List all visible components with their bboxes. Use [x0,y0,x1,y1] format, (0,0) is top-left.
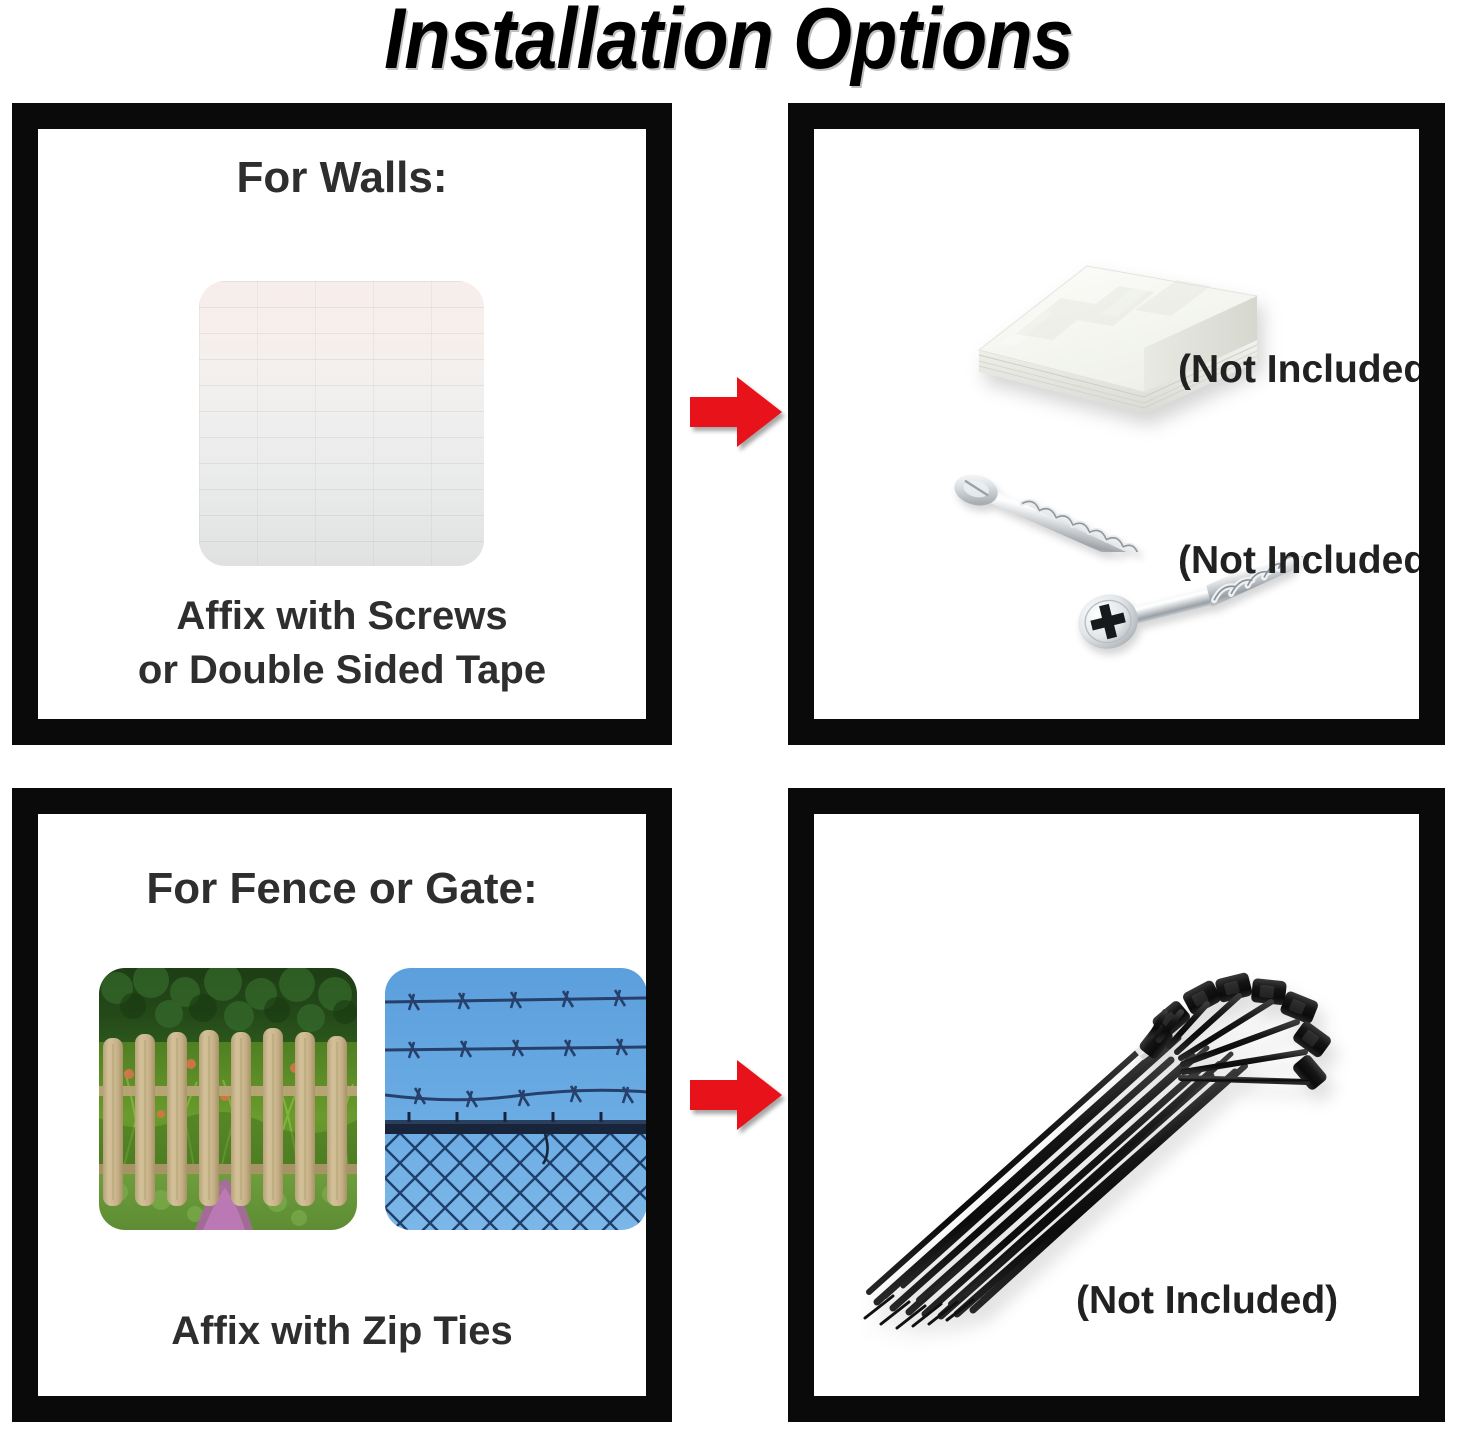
wooden-picket-fence-photo [99,968,357,1230]
panel-for-fence-or-gate: For Fence or Gate: [12,788,672,1422]
panel-zip-ties-content: (Not Included) [814,814,1419,1396]
page-title: Installation Options [87,0,1369,84]
tape-not-included-label: (Not Included) [1178,348,1419,392]
black-zip-ties-bundle [859,900,1349,1330]
panel-for-walls-content: For Walls: Affix with Screws or Double S… [38,129,646,719]
zip-ties-not-included-label: (Not Included) [1076,1279,1338,1323]
panel-for-fence-or-gate-content: For Fence or Gate: [38,814,646,1396]
for-walls-caption: Affix with Screws or Double Sided Tape [38,589,646,697]
panel-wall-hardware: (Not Included) [788,103,1445,745]
panel-wall-hardware-content: (Not Included) [814,129,1419,719]
red-right-arrow-icon [690,375,782,449]
for-fence-caption: Affix with Zip Ties [38,1304,646,1358]
wood-screw-icon [952,470,1214,552]
screws-not-included-label: (Not Included) [1178,539,1419,583]
for-fence-or-gate-heading: For Fence or Gate: [38,864,646,914]
for-walls-caption-line-2: or Double Sided Tape [38,643,646,697]
for-walls-heading: For Walls: [38,153,646,203]
for-fence-caption-line-1: Affix with Zip Ties [38,1304,646,1358]
white-brick-wall-photo [199,281,484,566]
for-walls-caption-line-1: Affix with Screws [38,589,646,643]
panel-zip-ties: (Not Included) [788,788,1445,1422]
red-right-arrow-icon [690,1058,782,1132]
chain-link-barbed-wire-fence-photo [385,968,646,1230]
panel-for-walls: For Walls: Affix with Screws or Double S… [12,103,672,745]
